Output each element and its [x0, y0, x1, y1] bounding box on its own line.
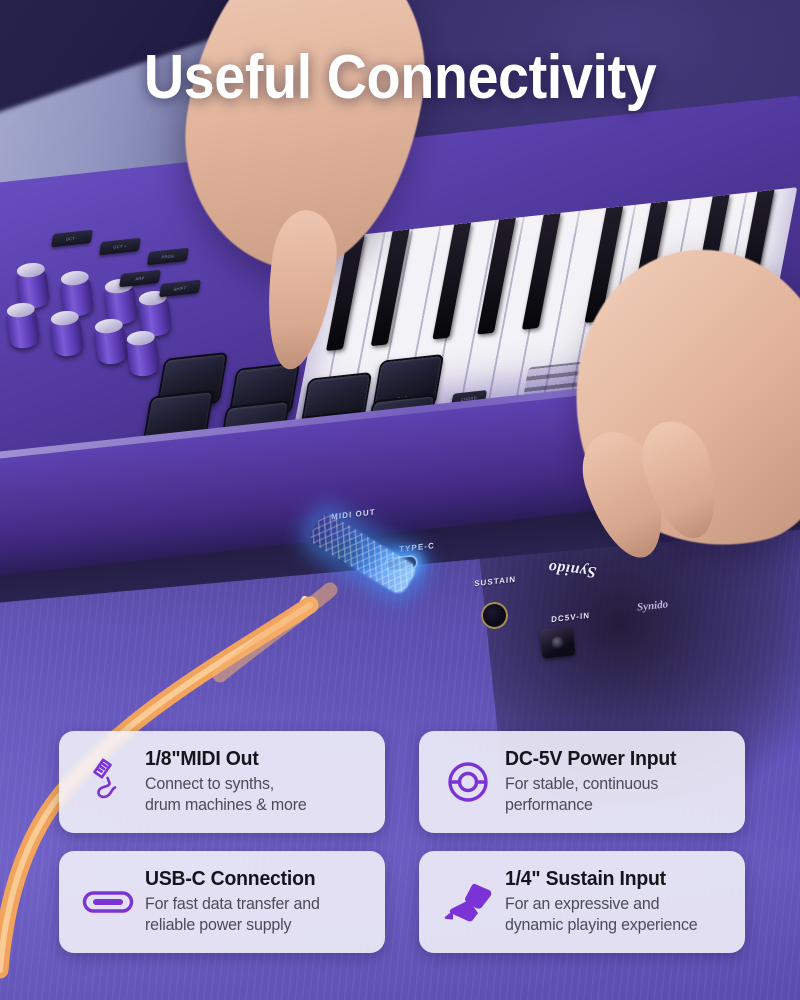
control-knob [50, 314, 85, 357]
product-feature-banner: OCT - OCT + PROG SHIFT ARP CHORD SEQ LAT… [0, 0, 800, 1000]
feature-card-sustain[interactable]: 1/4" Sustain Input For an expressive and… [419, 851, 745, 953]
dc-power-jack [540, 626, 576, 658]
feature-title: 1/8"MIDI Out [145, 748, 366, 771]
control-knob [94, 322, 129, 365]
feature-title: DC-5V Power Input [505, 748, 726, 771]
feature-card-usb-c[interactable]: USB-C Connection For fast data transfer … [59, 851, 385, 953]
feature-card-text: 1/8"MIDI Out Connect to synths, drum mac… [143, 748, 373, 816]
feature-description: For stable, continuous performance [505, 774, 726, 816]
trs-midi-plug-icon [73, 751, 143, 813]
feature-description: For an expressive and dynamic playing ex… [505, 894, 726, 936]
feature-card-dc-power[interactable]: DC-5V Power Input For stable, continuous… [419, 731, 745, 833]
feature-card-text: 1/4" Sustain Input For an expressive and… [503, 868, 733, 936]
control-knob [126, 334, 161, 377]
feature-card-text: DC-5V Power Input For stable, continuous… [503, 748, 733, 816]
feature-title: USB-C Connection [145, 868, 366, 891]
feature-card-midi-out[interactable]: 1/8"MIDI Out Connect to synths, drum mac… [59, 731, 385, 833]
feature-card-text: USB-C Connection For fast data transfer … [143, 868, 373, 936]
page-title: Useful Connectivity [40, 42, 760, 113]
dc-power-jack-icon [433, 751, 503, 813]
feature-description: Connect to synths, drum machines & more [145, 774, 366, 816]
feature-description: For fast data transfer and reliable powe… [145, 894, 366, 936]
feature-title: 1/4" Sustain Input [505, 868, 726, 891]
usb-c-port-icon [73, 871, 143, 933]
sustain-pedal-icon [433, 871, 503, 933]
feature-card-grid: 1/8"MIDI Out Connect to synths, drum mac… [59, 731, 745, 953]
control-knob [6, 306, 41, 349]
